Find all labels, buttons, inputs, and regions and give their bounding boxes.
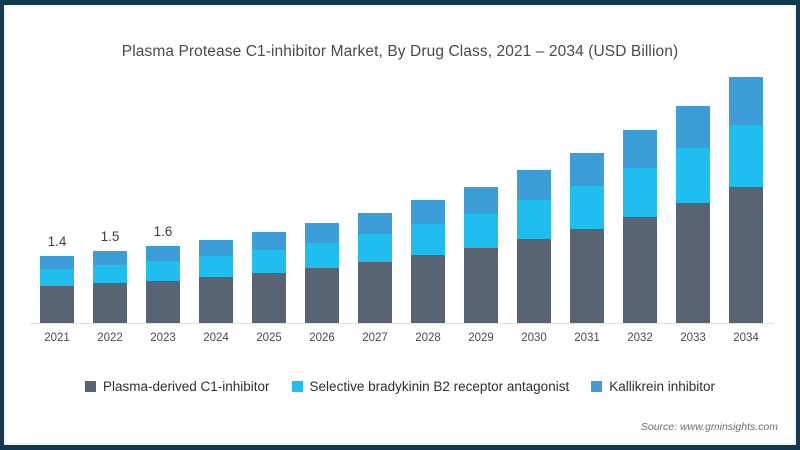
bar-2028[interactable]: [411, 200, 445, 323]
bar-segment-plasma-derived-c1-inhibitor: [93, 283, 127, 323]
legend-label-kallikrein-inhibitor: Kallikrein inhibitor: [609, 379, 715, 394]
x-axis-label-2028: 2028: [398, 332, 458, 344]
x-axis-label-2023: 2023: [133, 332, 193, 344]
bar-value-label-2021: 1.4: [27, 234, 87, 249]
legend-item-kallikrein-inhibitor[interactable]: Kallikrein inhibitor: [591, 379, 715, 394]
bar-segment-plasma-derived-c1-inhibitor: [40, 286, 74, 323]
legend-swatch-selective-bradykinin-b2-receptor-antagonist: [292, 381, 303, 392]
bar-segment-selective-bradykinin-b2-receptor-antagonist: [411, 224, 445, 255]
bar-segment-selective-bradykinin-b2-receptor-antagonist: [676, 148, 710, 203]
legend-item-plasma-derived-c1-inhibitor[interactable]: Plasma-derived C1-inhibitor: [85, 379, 270, 394]
bar-segment-selective-bradykinin-b2-receptor-antagonist: [146, 261, 180, 281]
legend-swatch-plasma-derived-c1-inhibitor: [85, 381, 96, 392]
legend-label-selective-bradykinin-b2-receptor-antagonist: Selective bradykinin B2 receptor antagon…: [310, 379, 570, 394]
bar-segment-kallikrein-inhibitor: [358, 213, 392, 234]
legend-item-selective-bradykinin-b2-receptor-antagonist[interactable]: Selective bradykinin B2 receptor antagon…: [292, 379, 570, 394]
bar-segment-plasma-derived-c1-inhibitor: [411, 255, 445, 323]
x-axis-label-2026: 2026: [292, 332, 352, 344]
bar-2023[interactable]: [146, 246, 180, 323]
bar-segment-plasma-derived-c1-inhibitor: [729, 187, 763, 323]
bar-segment-selective-bradykinin-b2-receptor-antagonist: [40, 269, 74, 286]
bar-2027[interactable]: [358, 213, 392, 323]
plot-area: [30, 75, 772, 323]
bar-segment-selective-bradykinin-b2-receptor-antagonist: [305, 243, 339, 268]
bar-2029[interactable]: [464, 187, 498, 323]
bar-segment-kallikrein-inhibitor: [676, 106, 710, 148]
x-axis-label-2031: 2031: [557, 332, 617, 344]
bar-segment-plasma-derived-c1-inhibitor: [146, 281, 180, 323]
bar-segment-kallikrein-inhibitor: [199, 240, 233, 256]
bar-value-label-2022: 1.5: [80, 229, 140, 244]
bar-segment-selective-bradykinin-b2-receptor-antagonist: [464, 214, 498, 248]
bar-value-label-2023: 1.6: [133, 224, 193, 239]
bar-2034[interactable]: [729, 77, 763, 323]
bar-segment-kallikrein-inhibitor: [464, 187, 498, 214]
x-axis-label-2030: 2030: [504, 332, 564, 344]
bar-segment-plasma-derived-c1-inhibitor: [570, 229, 604, 323]
bar-segment-selective-bradykinin-b2-receptor-antagonist: [623, 168, 657, 217]
x-axis-baseline: [30, 323, 774, 324]
bar-segment-kallikrein-inhibitor: [623, 130, 657, 168]
x-axis-label-2029: 2029: [451, 332, 511, 344]
x-axis-label-2033: 2033: [663, 332, 723, 344]
source-attribution: Source: www.gminsights.com: [641, 421, 778, 433]
x-axis-label-2022: 2022: [80, 332, 140, 344]
bar-2030[interactable]: [517, 170, 551, 323]
chart-title: Plasma Protease C1-inhibitor Market, By …: [4, 43, 796, 61]
bar-2021[interactable]: [40, 256, 74, 323]
chart-legend: Plasma-derived C1-inhibitor Selective br…: [4, 379, 796, 394]
bar-segment-kallikrein-inhibitor: [411, 200, 445, 224]
bar-segment-kallikrein-inhibitor: [305, 223, 339, 243]
legend-label-plasma-derived-c1-inhibitor: Plasma-derived C1-inhibitor: [103, 379, 270, 394]
bar-2025[interactable]: [252, 232, 286, 323]
bar-segment-kallikrein-inhibitor: [517, 170, 551, 200]
bar-segment-plasma-derived-c1-inhibitor: [252, 273, 286, 323]
bar-segment-selective-bradykinin-b2-receptor-antagonist: [199, 256, 233, 277]
bar-segment-selective-bradykinin-b2-receptor-antagonist: [358, 234, 392, 262]
x-axis-label-2021: 2021: [27, 332, 87, 344]
bar-segment-plasma-derived-c1-inhibitor: [305, 268, 339, 323]
bar-2032[interactable]: [623, 130, 657, 323]
bar-segment-kallikrein-inhibitor: [146, 246, 180, 261]
bar-2026[interactable]: [305, 223, 339, 323]
x-axis-label-2024: 2024: [186, 332, 246, 344]
chart-frame: Plasma Protease C1-inhibitor Market, By …: [0, 0, 800, 450]
bar-segment-kallikrein-inhibitor: [729, 77, 763, 125]
bar-segment-selective-bradykinin-b2-receptor-antagonist: [570, 186, 604, 229]
bar-2031[interactable]: [570, 153, 604, 323]
bar-2022[interactable]: [93, 251, 127, 323]
bar-segment-plasma-derived-c1-inhibitor: [517, 239, 551, 323]
bar-segment-selective-bradykinin-b2-receptor-antagonist: [517, 200, 551, 239]
bar-2033[interactable]: [676, 106, 710, 323]
x-axis-label-2025: 2025: [239, 332, 299, 344]
bar-segment-kallikrein-inhibitor: [93, 251, 127, 265]
x-axis-label-2032: 2032: [610, 332, 670, 344]
chart-canvas: Plasma Protease C1-inhibitor Market, By …: [4, 5, 796, 445]
bar-segment-plasma-derived-c1-inhibitor: [358, 262, 392, 323]
bar-segment-selective-bradykinin-b2-receptor-antagonist: [729, 125, 763, 187]
bar-segment-plasma-derived-c1-inhibitor: [464, 248, 498, 323]
bar-segment-kallikrein-inhibitor: [40, 256, 74, 269]
bar-segment-plasma-derived-c1-inhibitor: [623, 217, 657, 323]
bar-segment-kallikrein-inhibitor: [252, 232, 286, 250]
x-axis-label-2027: 2027: [345, 332, 405, 344]
bar-segment-kallikrein-inhibitor: [570, 153, 604, 186]
bar-segment-selective-bradykinin-b2-receptor-antagonist: [93, 265, 127, 283]
bar-segment-plasma-derived-c1-inhibitor: [676, 203, 710, 323]
bar-segment-selective-bradykinin-b2-receptor-antagonist: [252, 250, 286, 273]
bar-2024[interactable]: [199, 240, 233, 323]
legend-swatch-kallikrein-inhibitor: [591, 381, 602, 392]
bar-segment-plasma-derived-c1-inhibitor: [199, 277, 233, 323]
x-axis-label-2034: 2034: [716, 332, 776, 344]
